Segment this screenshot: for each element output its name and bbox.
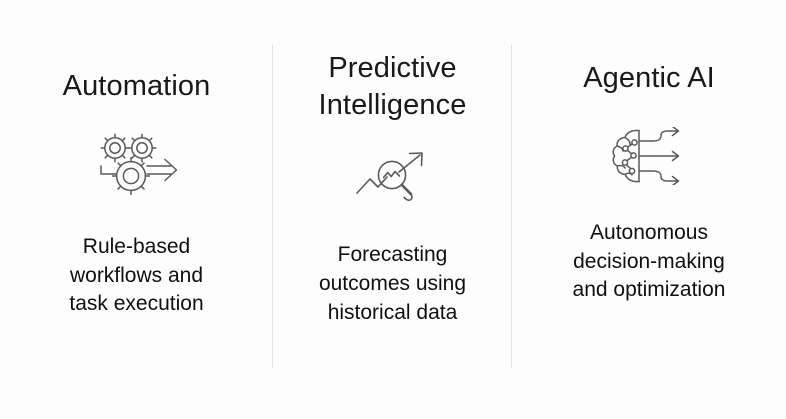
feature-column-automation: Automation [0,0,273,380]
column-description-automation: Rule-based workflows and task execution [63,233,209,320]
gears-arrow-icon [95,133,179,195]
column-title-agentic-ai: Agentic AI [573,60,725,97]
magnifier-trend-arrow-icon [354,147,432,205]
column-title-predictive-intelligence: Predictive Intelligence [309,50,477,123]
columns-container: Automation [0,0,786,380]
brain-branching-arrows-icon [609,127,689,185]
three-column-feature-board: Automation [0,0,786,419]
column-title-automation: Automation [53,68,221,105]
feature-column-predictive-intelligence: Predictive Intelligence Foreca [273,0,512,380]
column-description-predictive-intelligence: Forecasting outcomes using historical da… [313,241,472,328]
column-description-agentic-ai: Autonomous decision-making and optimizat… [567,219,732,306]
feature-column-agentic-ai: Agentic AI [512,0,786,380]
